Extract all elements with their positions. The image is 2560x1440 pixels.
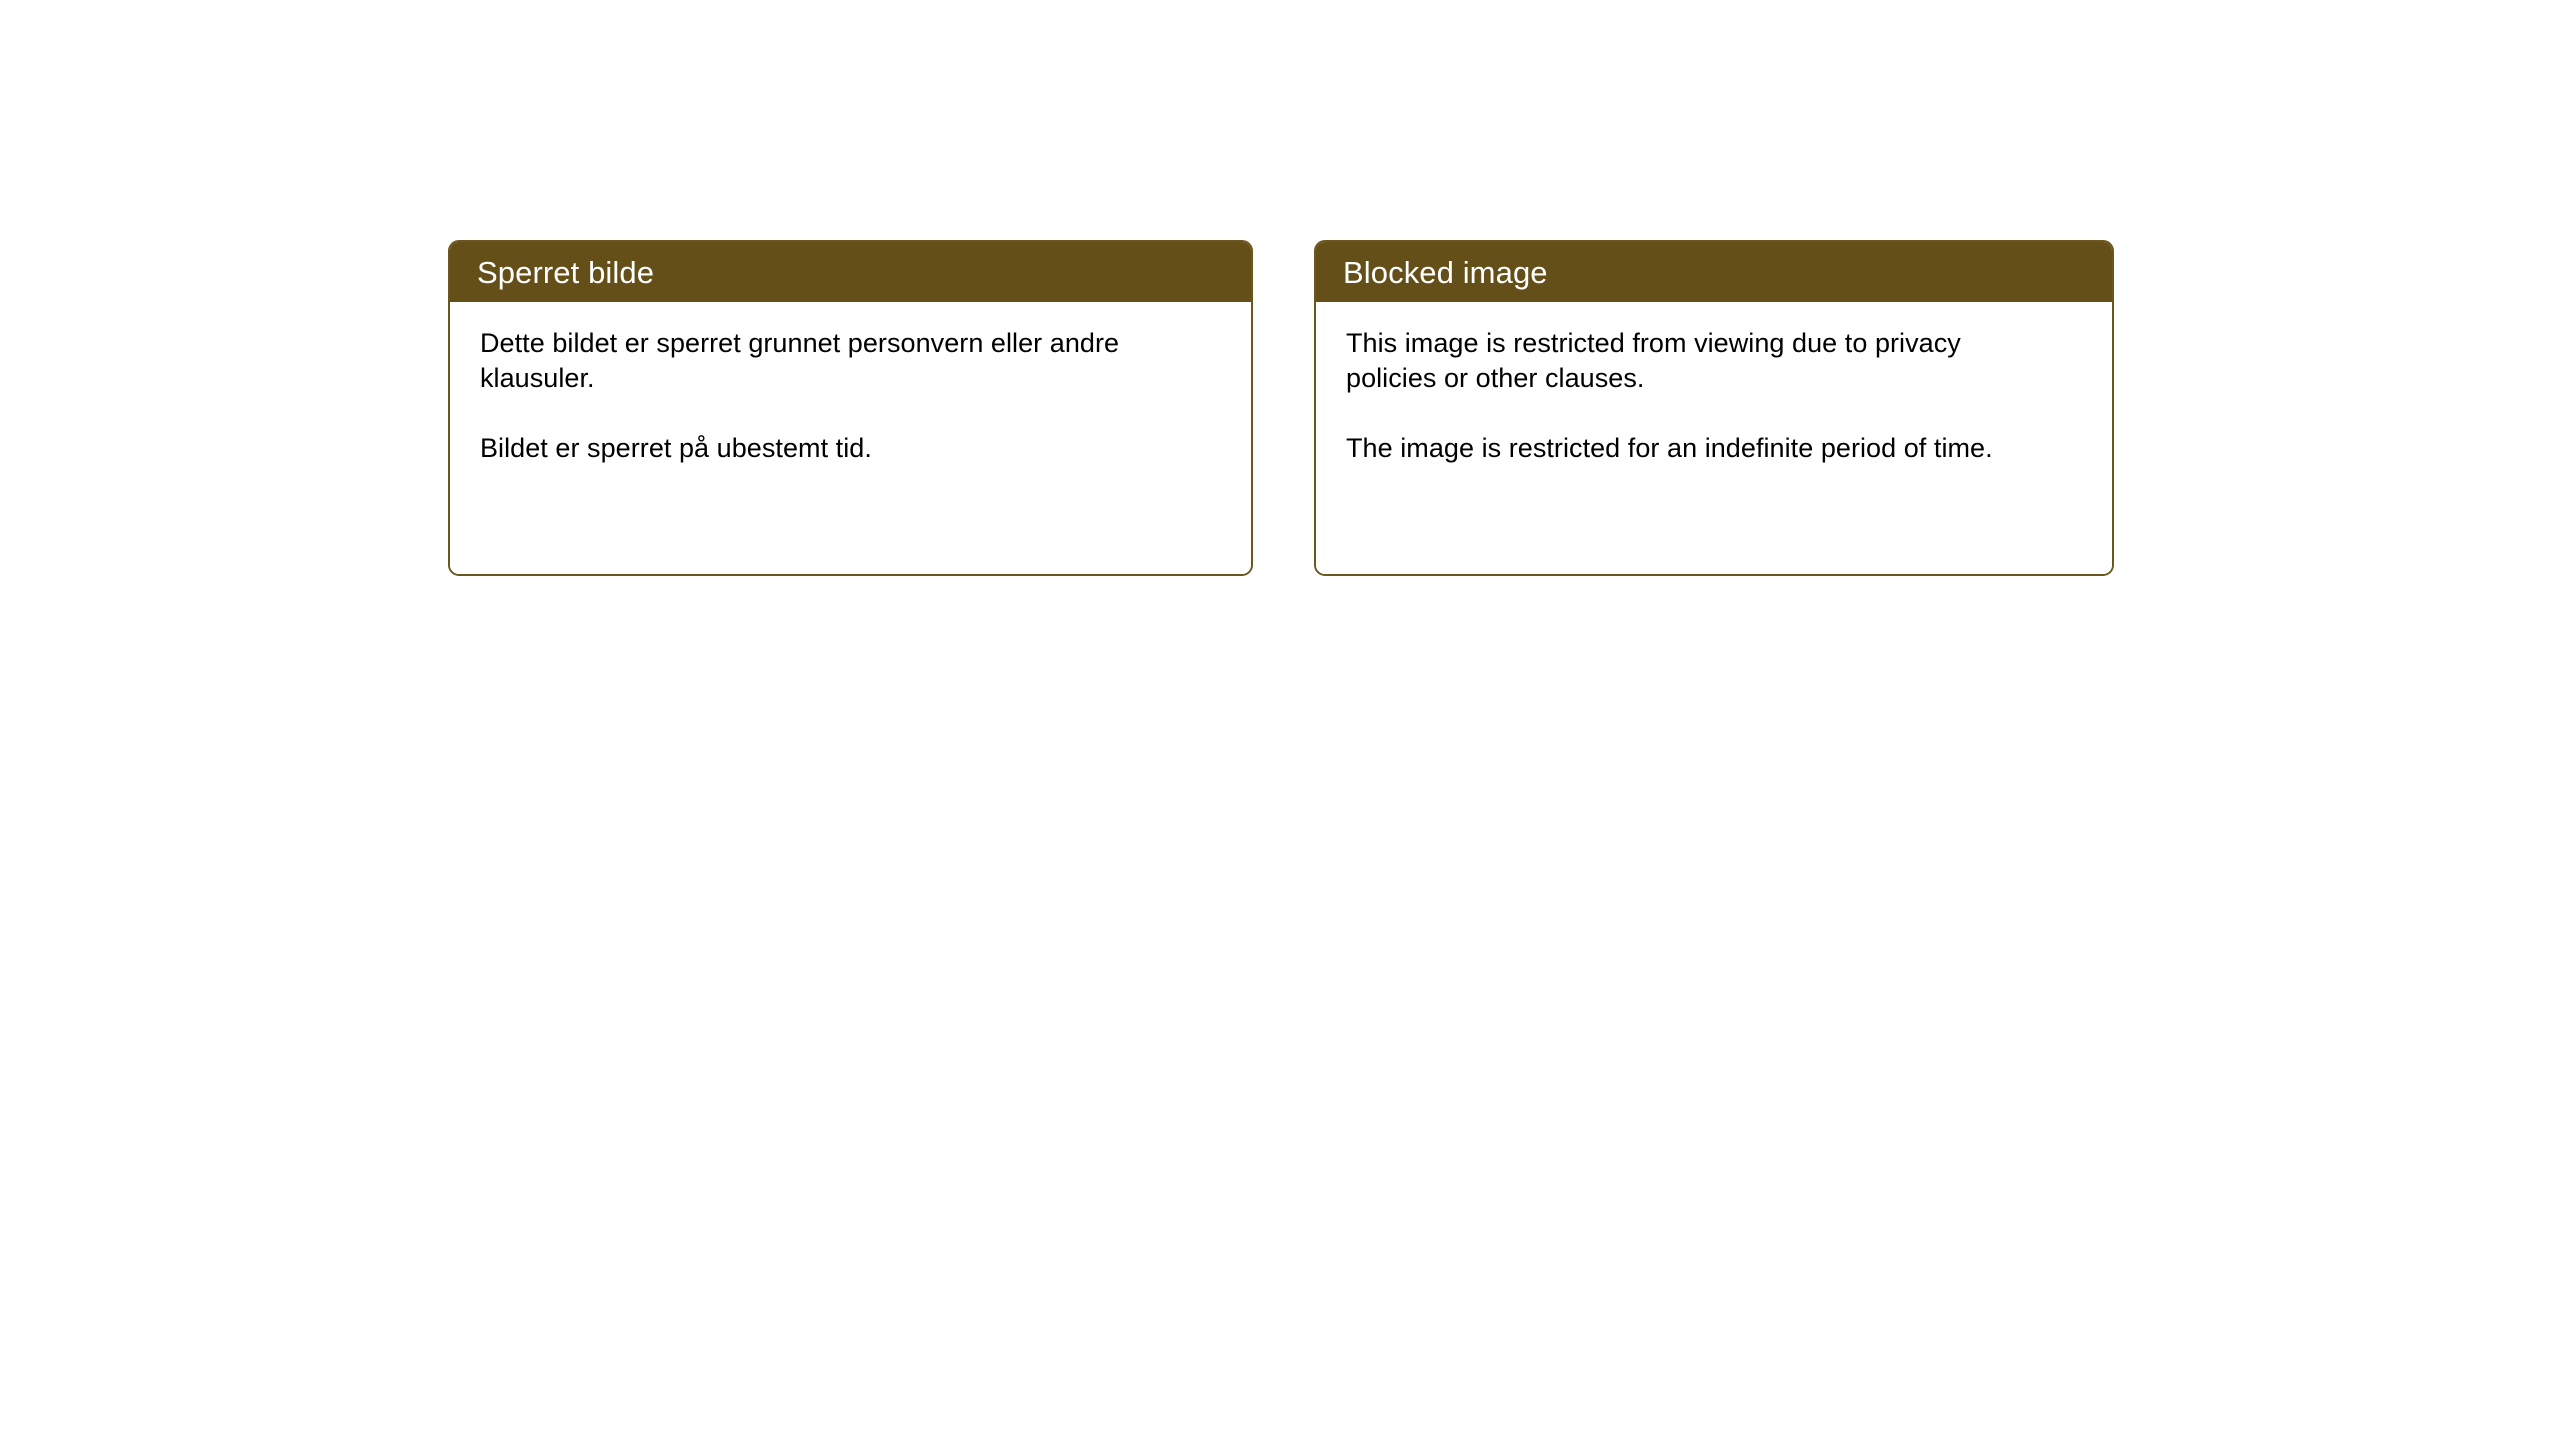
card-paragraph-duration-english: The image is restricted for an indefinit… [1346, 431, 2046, 466]
card-paragraph-reason-norwegian: Dette bildet er sperret grunnet personve… [480, 326, 1200, 396]
card-title-english: Blocked image [1343, 257, 1548, 288]
card-header-english: Blocked image [1316, 242, 2112, 302]
card-title-norwegian: Sperret bilde [477, 257, 654, 288]
blocked-image-card-english: Blocked image This image is restricted f… [1314, 240, 2114, 576]
card-paragraph-reason-english: This image is restricted from viewing du… [1346, 326, 2046, 396]
card-header-norwegian: Sperret bilde [450, 242, 1251, 302]
card-body-norwegian: Dette bildet er sperret grunnet personve… [450, 302, 1251, 574]
page-root: Sperret bilde Dette bildet er sperret gr… [0, 0, 2560, 1440]
card-paragraph-duration-norwegian: Bildet er sperret på ubestemt tid. [480, 431, 1200, 466]
notice-card-row: Sperret bilde Dette bildet er sperret gr… [448, 240, 2114, 576]
card-body-english: This image is restricted from viewing du… [1316, 302, 2112, 574]
blocked-image-card-norwegian: Sperret bilde Dette bildet er sperret gr… [448, 240, 1253, 576]
